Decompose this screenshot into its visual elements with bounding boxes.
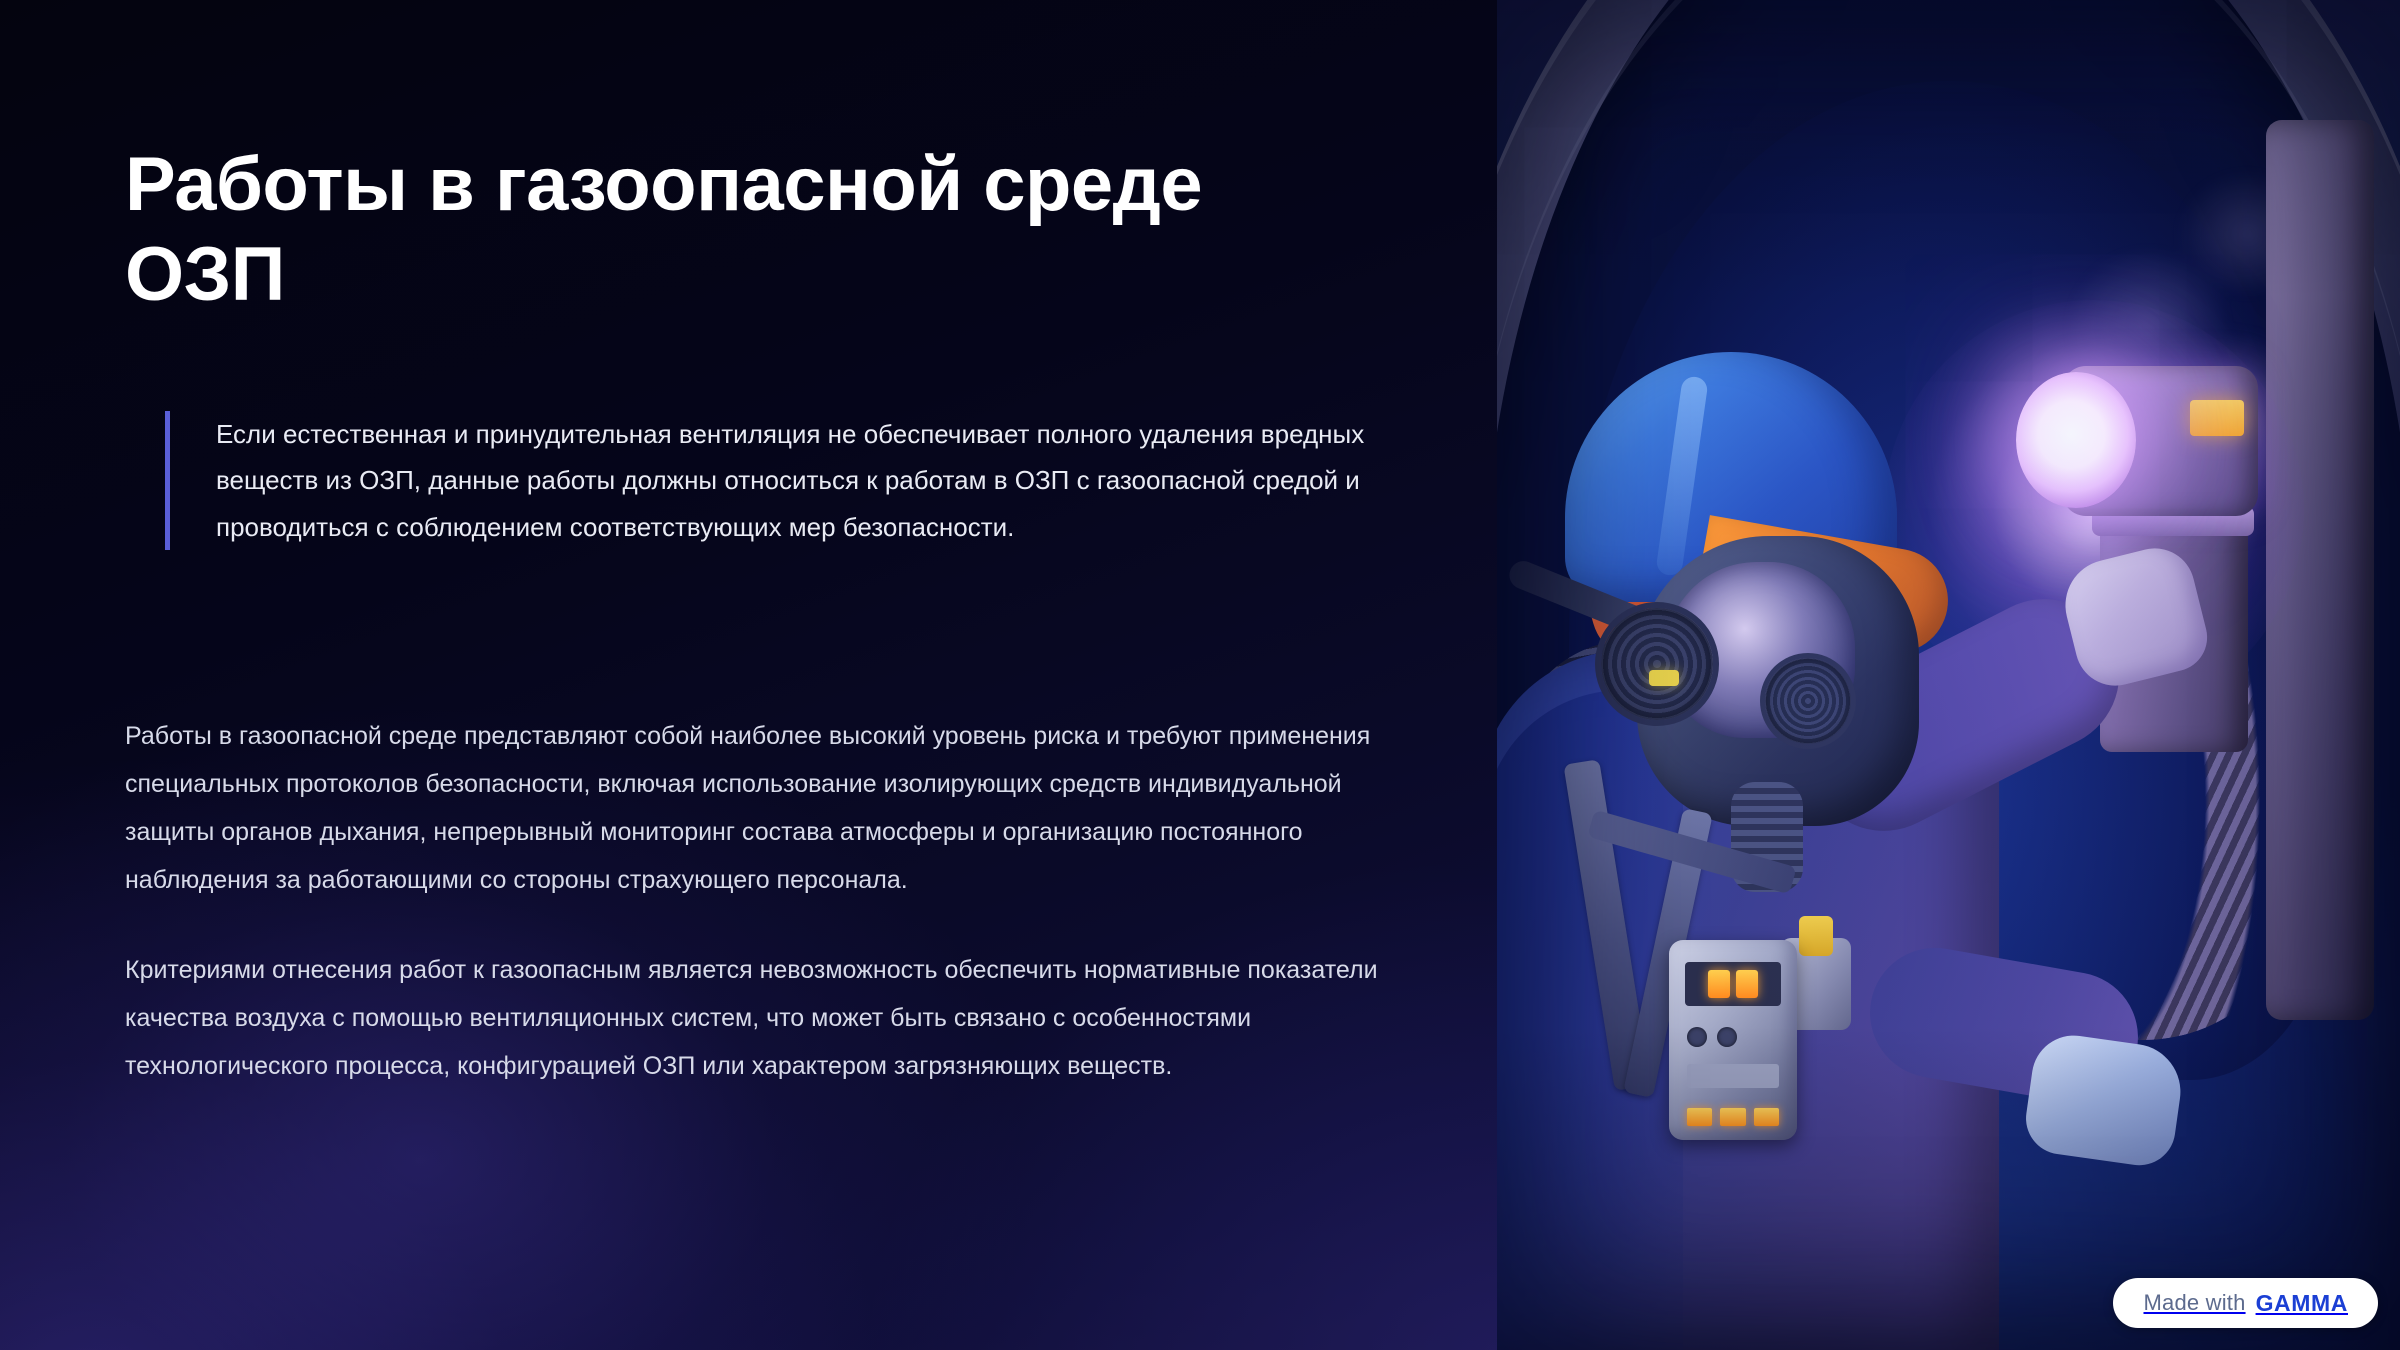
body-paragraph-1: Работы в газоопасной среде представляют … [125, 712, 1395, 904]
worker-figure [1497, 340, 2169, 1350]
gas-detector-device [1669, 940, 1797, 1140]
page-title: Работы в газоопасной среде ОЗП [125, 140, 1305, 319]
body-paragraph-2: Критериями отнесения работ к газоопасным… [125, 946, 1395, 1090]
gas-mask-filter-small [1765, 658, 1851, 744]
gas-detector-status-leds [1687, 1108, 1779, 1126]
gas-detector-knob-2 [1717, 1027, 1737, 1047]
pipe-column [2266, 120, 2374, 1020]
gas-detector-knob-1 [1687, 1027, 1707, 1047]
gas-detector-status-led-3 [1754, 1108, 1779, 1126]
gas-detector-label-bar [1687, 1064, 1779, 1088]
slide-root: Работы в газоопасной среде ОЗП Если есте… [0, 0, 2400, 1350]
illustration-panel [1497, 0, 2400, 1350]
callout-quote-text: Если естественная и принудительная венти… [216, 411, 1385, 550]
gas-detector-led-1 [1708, 970, 1730, 998]
made-with-label: Made with [2143, 1290, 2245, 1316]
callout-quote: Если естественная и принудительная венти… [165, 411, 1385, 550]
body-copy: Работы в газоопасной среде представляют … [125, 712, 1395, 1090]
gas-detector-screen [1685, 962, 1781, 1006]
gas-mask-yellow-accent [1649, 670, 1679, 686]
gas-mask-filter-large [1601, 608, 1713, 720]
gas-detector-knobs [1687, 1024, 1779, 1050]
made-with-gamma-badge[interactable]: Made with GAMMA [2113, 1278, 2378, 1328]
gas-detector-status-led-1 [1687, 1108, 1712, 1126]
harness-yellow-clip [1799, 916, 1833, 956]
gas-detector-led-2 [1736, 970, 1758, 998]
text-panel: Работы в газоопасной среде ОЗП Если есте… [0, 0, 1497, 1350]
lamp-amber-indicator [2190, 400, 2244, 436]
worker-glove-lower [2021, 1030, 2186, 1170]
gas-detector-status-led-2 [1720, 1108, 1745, 1126]
gamma-brand-label: GAMMA [2256, 1290, 2348, 1317]
